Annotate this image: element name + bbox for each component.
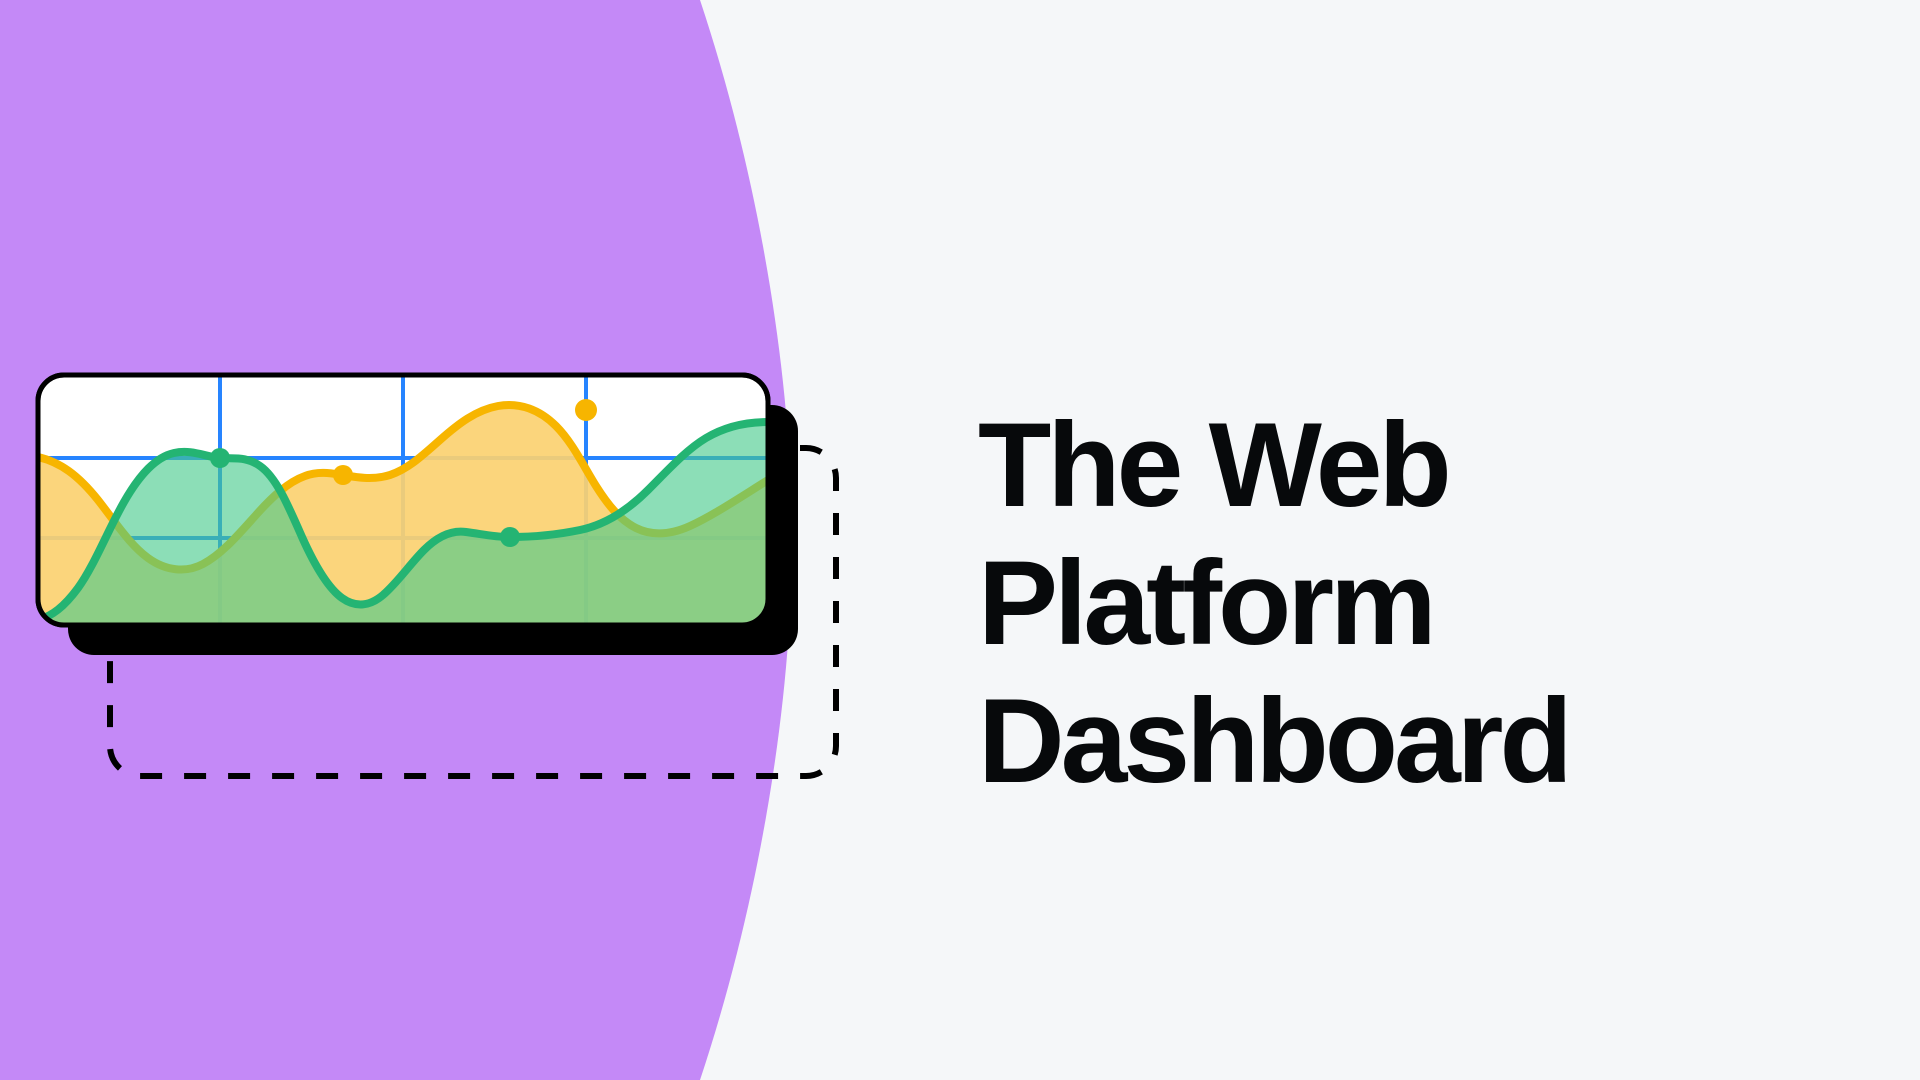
orange-marker-1[interactable] (333, 465, 353, 485)
orange-marker-2[interactable] (575, 399, 597, 421)
slide-canvas: The Web Platform Dashboard (0, 0, 1920, 1080)
green-marker-2[interactable] (500, 527, 520, 547)
page-title: The Web Platform Dashboard (978, 396, 1738, 810)
green-marker-1[interactable] (210, 448, 230, 468)
hero-chart-card[interactable] (0, 330, 900, 850)
chart-card-svg (0, 330, 900, 850)
